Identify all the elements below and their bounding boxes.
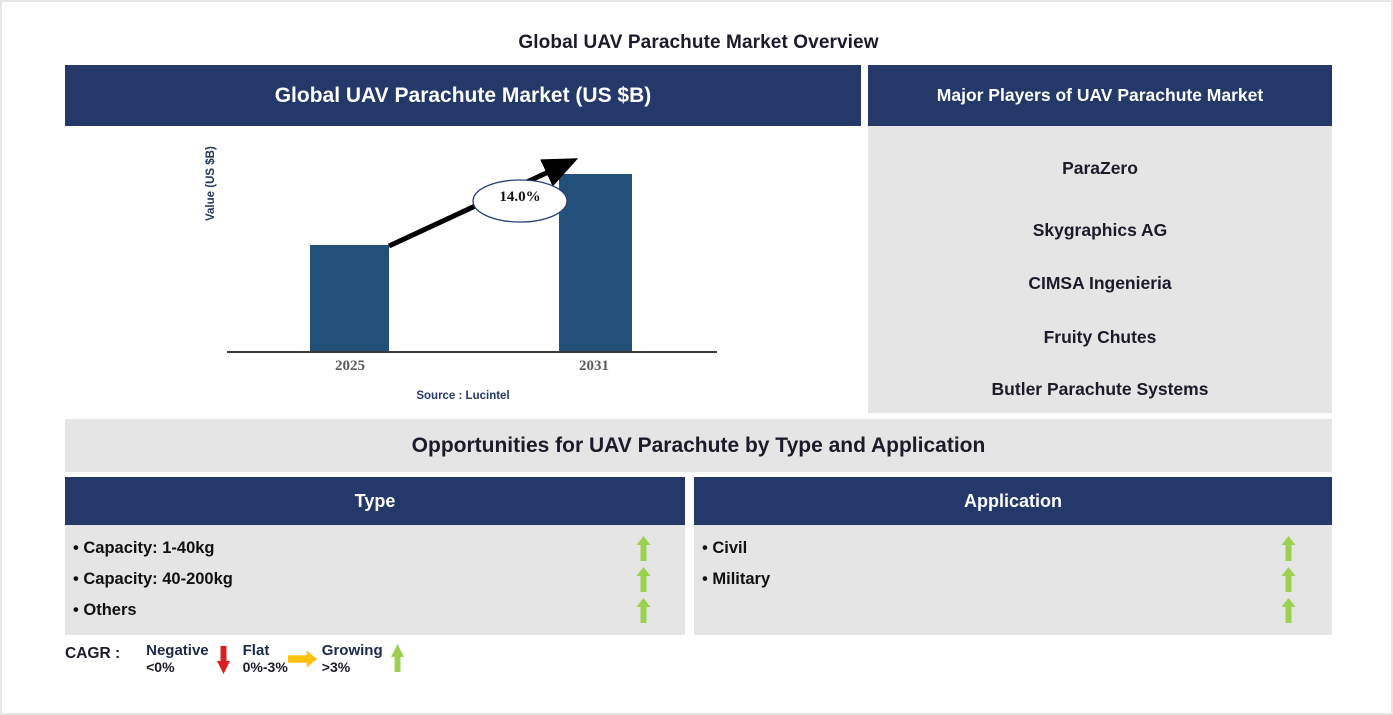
arrow-right-icon <box>288 642 318 676</box>
legend-range: >3% <box>322 659 383 675</box>
application-item-label: • Military <box>694 570 770 589</box>
legend-range: <0% <box>146 659 209 675</box>
legend-label: Growing <box>322 642 383 659</box>
arrow-up-icon <box>635 598 652 623</box>
player-item: Fruity Chutes <box>868 329 1332 347</box>
legend-range: 0%-3% <box>243 659 288 675</box>
trend-cell <box>1266 533 1310 564</box>
legend-entry-negative: Negative <0% <box>146 642 239 676</box>
cagr-callout-label: 14.0% <box>470 189 570 206</box>
arrow-up-icon <box>1280 536 1297 561</box>
player-item: ParaZero <box>868 160 1332 178</box>
trend-cell <box>621 595 665 626</box>
trend-cell <box>621 533 665 564</box>
bar-chart: Value (US $B) 2025 2031 14.0% Source : L <box>65 126 861 413</box>
list-item: • Capacity: 1-40kg <box>65 533 685 564</box>
arrow-up-icon <box>1280 598 1297 623</box>
arrow-up-icon <box>635 567 652 592</box>
player-item: CIMSA Ingenieria <box>868 275 1332 293</box>
chart-panel-body: Value (US $B) 2025 2031 14.0% Source : L <box>65 126 861 413</box>
list-item: • Civil <box>694 533 1332 564</box>
legend-entry-growing: Growing >3% <box>322 642 413 676</box>
list-item: • Capacity: 40-200kg <box>65 564 685 595</box>
list-item <box>694 595 1332 626</box>
trend-cell <box>1266 564 1310 595</box>
cagr-callout-ellipse <box>65 126 861 413</box>
legend-label: Negative <box>146 642 209 659</box>
arrow-up-icon <box>635 536 652 561</box>
opportunities-banner: Opportunities for UAV Parachute by Type … <box>65 419 1332 472</box>
players-panel-header: Major Players of UAV Parachute Market <box>868 65 1332 126</box>
legend-entry-flat: Flat 0%-3% <box>243 642 318 676</box>
list-item: • Military <box>694 564 1332 595</box>
trend-cell <box>1266 595 1310 626</box>
player-item: Butler Parachute Systems <box>868 381 1332 399</box>
type-panel-header: Type <box>65 477 685 525</box>
type-item-label: • Capacity: 1-40kg <box>65 539 215 558</box>
page-title: Global UAV Parachute Market Overview <box>65 32 1332 54</box>
infographic-page: Global UAV Parachute Market Overview Glo… <box>0 0 1393 715</box>
arrow-up-icon <box>383 642 413 676</box>
player-item: Skygraphics AG <box>868 222 1332 240</box>
type-item-label: • Capacity: 40-200kg <box>65 570 233 589</box>
application-panel-header: Application <box>694 477 1332 525</box>
list-item: • Others <box>65 595 685 626</box>
arrow-up-icon <box>1280 567 1297 592</box>
type-panel-body: • Capacity: 1-40kg • Capacity: 40-200kg … <box>65 525 685 635</box>
application-item-label: • Civil <box>694 539 747 558</box>
trend-cell <box>621 564 665 595</box>
players-panel-body: ParaZero Skygraphics AG CIMSA Ingenieria… <box>868 126 1332 413</box>
legend-label: Flat <box>243 642 288 659</box>
application-panel-body: • Civil • Military <box>694 525 1332 635</box>
chart-source-label: Source : Lucintel <box>65 390 861 402</box>
arrow-down-icon <box>209 642 239 676</box>
chart-panel-header: Global UAV Parachute Market (US $B) <box>65 65 861 126</box>
cagr-legend: CAGR : Negative <0% Flat 0%-3% <box>65 642 565 684</box>
cagr-legend-title: CAGR : <box>65 642 120 663</box>
type-item-label: • Others <box>65 601 137 620</box>
